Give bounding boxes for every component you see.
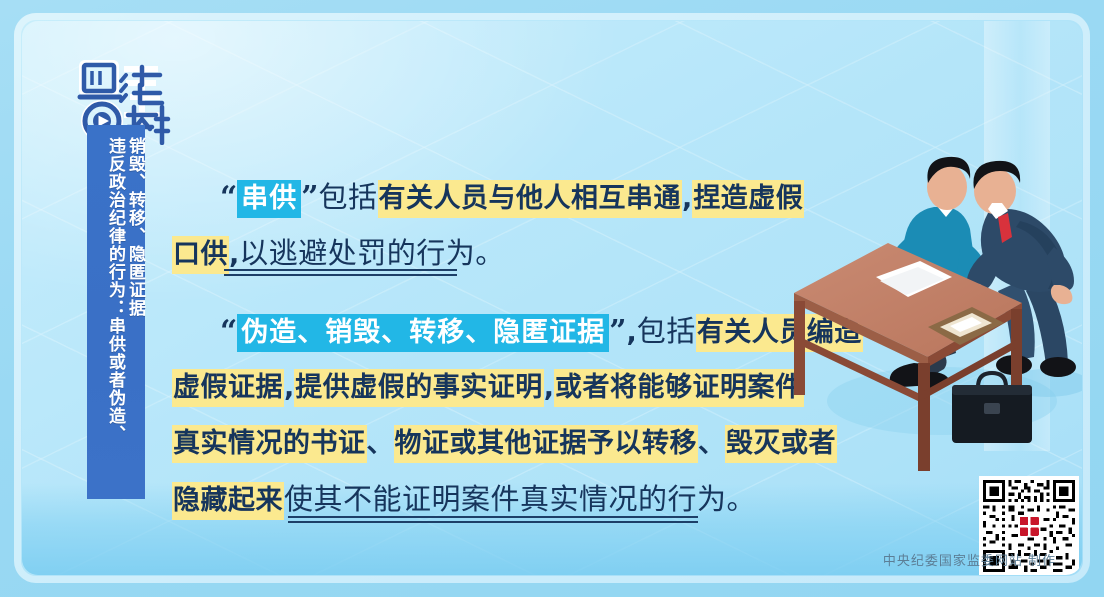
text-line: 口供,以逃避处罚的行为。 (172, 225, 812, 281)
banner-column-right: 销毁、转移、隐匿证据 (125, 137, 145, 499)
punctuation: , (544, 372, 554, 403)
text-run: 使其不能证明案件真实情况的行为。 (284, 482, 756, 516)
text-line: 真实情况的书证、物证或其他证据予以转移、毁灭或者 (172, 415, 812, 471)
text-line: “伪造、销毁、转移、隐匿证据”,包括有关人员编造 (172, 303, 812, 359)
illustration-two-men-at-desk (792, 151, 1082, 496)
poster-root: 销毁、转移、隐匿证据 违反政治纪律的行为：串供或者伪造、 “串供”包括有关人员与… (0, 0, 1104, 597)
desk-leg (794, 301, 805, 395)
paragraph-1: “串供”包括有关人员与他人相互串通,捏造虚假 口供,以逃避处罚的行为。 (172, 169, 812, 281)
text-run: 以逃避处罚的行为。 (239, 236, 505, 270)
punctuation: , (229, 239, 239, 270)
main-text-body: “串供”包括有关人员与他人相互串通,捏造虚假 口供,以逃避处罚的行为。 “伪造、… (172, 169, 812, 549)
text-run: 包括 (319, 180, 378, 214)
paragraph-2: “伪造、销毁、转移、隐匿证据”,包括有关人员编造 虚假证据,提供虚假的事实证明,… (172, 303, 812, 527)
text-highlight: 隐藏起来 (172, 482, 284, 520)
punctuation: , (627, 317, 637, 348)
desk-leg (918, 363, 930, 471)
term-highlight-chuangong: 串供 (237, 180, 301, 218)
punctuation: 、 (367, 428, 394, 459)
shoe (1040, 357, 1076, 377)
open-quote: “ (220, 180, 237, 215)
close-quote: ” (609, 314, 626, 349)
logo-char-ji (84, 65, 114, 91)
punctuation: 、 (698, 428, 725, 459)
inner-frame: 销毁、转移、隐匿证据 违反政治纪律的行为：串供或者伪造、 “串供”包括有关人员与… (22, 21, 1082, 575)
text-line: 虚假证据,提供虚假的事实证明,或者将能够证明案件 (172, 359, 812, 415)
illustration-svg (792, 151, 1082, 496)
text-highlight: 虚假证据 (172, 369, 284, 407)
punctuation: , (682, 183, 692, 214)
text-highlight: 真实情况的书证 (172, 425, 367, 463)
banner-column-left: 违反政治纪律的行为：串供或者伪造、 (105, 137, 125, 499)
text-run: 包括 (637, 314, 696, 348)
double-underline (288, 516, 698, 523)
double-underline (224, 269, 457, 276)
text-highlight: 提供虚假的事实证明 (294, 369, 544, 407)
vertical-title-banner: 销毁、转移、隐匿证据 违反政治纪律的行为：串供或者伪造、 (87, 125, 145, 499)
text-highlight: 捏造虚假 (692, 180, 804, 218)
text-line: 隐藏起来使其不能证明案件真实情况的行为。 (172, 471, 812, 527)
text-line: “串供”包括有关人员与他人相互串通,捏造虚假 (172, 169, 812, 225)
credit-text: 中央纪委国家监委网站 制作 (883, 550, 1056, 569)
punctuation: , (284, 372, 294, 403)
close-quote: ” (301, 180, 318, 215)
open-quote: “ (220, 314, 237, 349)
text-highlight: 或者将能够证明案件 (554, 369, 804, 407)
text-highlight: 有关人员与他人相互串通 (378, 180, 683, 218)
text-highlight: 口供 (172, 236, 229, 274)
briefcase-lock (984, 403, 1000, 414)
outer-frame: 销毁、转移、隐匿证据 违反政治纪律的行为：串供或者伪造、 “串供”包括有关人员与… (14, 13, 1090, 583)
term-highlight-weizao: 伪造、销毁、转移、隐匿证据 (237, 314, 609, 352)
text-highlight: 物证或其他证据予以转移 (394, 425, 699, 463)
